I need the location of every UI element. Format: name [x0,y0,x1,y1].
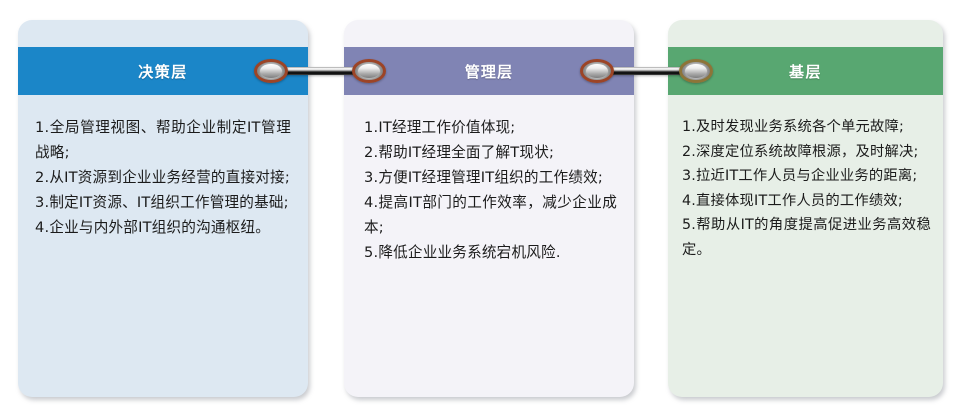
card-decision-title: 决策层 [138,61,188,82]
three-layer-diagram: 决策层 1.全局管理视图、帮助企业制定IT管理战略; 2.从IT资源到企业业务经… [0,0,960,416]
eyelet-icon-decision-right [254,59,288,83]
list-item: 3.方便IT经理管理IT组织的工作绩效; [364,165,617,190]
list-item: 4.企业与内外部IT组织的沟通枢纽。 [35,215,291,240]
eyelet-icon-management-right [580,59,614,83]
card-base-body: 1.及时发现业务系统各个单元故障; 2.深度定位系统故障根源，及时解决; 3.拉… [668,103,943,262]
list-item: 1.全局管理视图、帮助企业制定IT管理战略; [35,115,291,165]
list-item: 3.制定IT资源、IT组织工作管理的基础; [35,190,291,215]
card-management-title: 管理层 [465,61,514,82]
list-item: 5.帮助从IT的角度提高促进业务高效稳定。 [682,213,931,262]
list-item: 4.直接体现IT工作人员的工作绩效; [682,189,931,214]
list-item: 2.深度定位系统故障根源，及时解决; [682,140,931,165]
card-decision-body: 1.全局管理视图、帮助企业制定IT管理战略; 2.从IT资源到企业业务经营的直接… [18,103,308,240]
card-base-title: 基层 [789,61,822,82]
list-item: 1.IT经理工作价值体现; [364,115,617,140]
eyelet-icon-management-left [352,59,386,83]
list-item: 5.降低企业业务系统宕机风险. [364,240,617,265]
eyelet-icon-base-left [679,59,713,83]
card-management-body: 1.IT经理工作价值体现; 2.帮助IT经理全面了解T现状; 3.方便IT经理管… [344,103,634,266]
list-item: 3.拉近IT工作人员与企业业务的距离; [682,164,931,189]
list-item: 1.及时发现业务系统各个单元故障; [682,115,931,140]
list-item: 2.帮助IT经理全面了解T现状; [364,140,617,165]
list-item: 2.从IT资源到企业业务经营的直接对接; [35,165,291,190]
list-item: 4.提高IT部门的工作效率，减少企业成本; [364,190,617,240]
